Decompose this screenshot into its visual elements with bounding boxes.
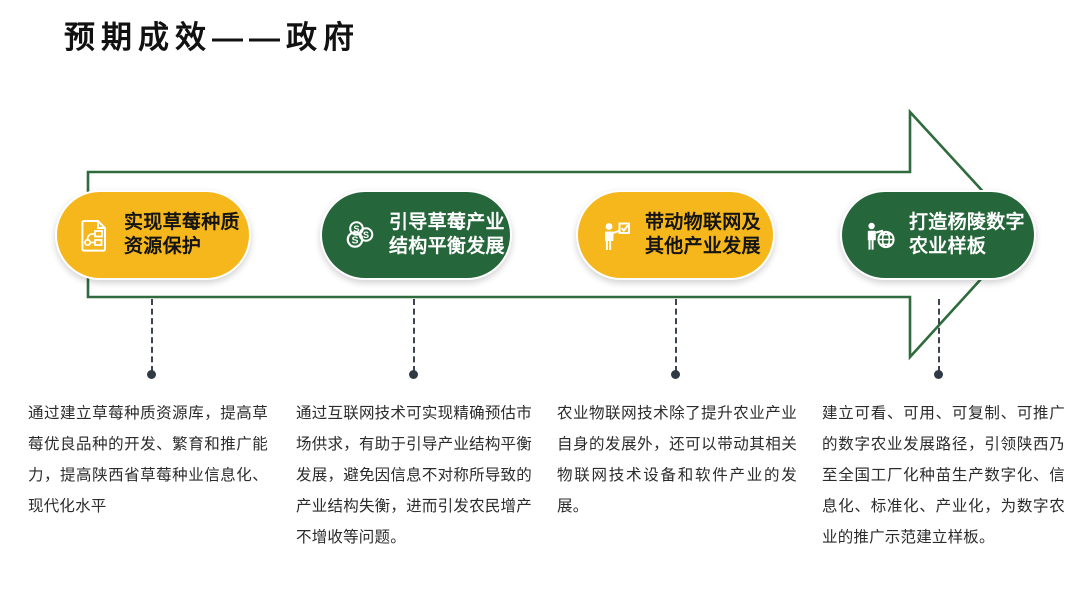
connector-line-4 [938,299,940,372]
step-pill-1[interactable]: 实现草莓种质 资源保护 [55,190,251,280]
step-label-4: 打造杨陵数字 农业样板 [909,211,1025,260]
svg-text:S: S [363,230,369,240]
connector-line-2 [413,299,415,372]
connector-line-1 [151,299,153,372]
step-pill-2[interactable]: S S S 引导草莓产业 结构平衡发展 [320,190,512,280]
step-label-1: 实现草莓种质 资源保护 [124,211,240,260]
coins-dollar-icon: S S S [340,215,380,255]
connector-dot-1 [147,370,156,379]
person-checklist-icon [596,215,636,255]
connector-dot-4 [934,370,943,379]
person-globe-icon [860,215,900,255]
step-label-2: 引导草莓产业 结构平衡发展 [389,211,505,260]
step-description-1: 通过建立草莓种质资源库，提高草莓优良品种的开发、繁育和推广能力，提高陕西省草莓种… [28,398,268,522]
page-title: 预期成效——政府 [64,18,360,58]
connector-line-3 [675,299,677,372]
connector-dot-3 [671,370,680,379]
connector-dot-2 [409,370,418,379]
slide-canvas: 预期成效——政府 实现草莓种质 资源保护 通过建立草莓种质资源库，提高草莓优良品… [0,0,1080,609]
step-description-4: 建立可看、可用、可复制、可推广的数字农业发展路径，引领陕西乃至全国工厂化种苗生产… [822,398,1065,553]
step-description-3: 农业物联网技术除了提升农业产业自身的发展外，还可以带动其相关物联网技术设备和软件… [557,398,797,522]
document-network-icon [75,215,115,255]
step-label-3: 带动物联网及 其他产业发展 [645,211,761,260]
step-pill-4[interactable]: 打造杨陵数字 农业样板 [840,190,1036,280]
step-pill-3[interactable]: 带动物联网及 其他产业发展 [576,190,775,280]
svg-text:S: S [351,235,358,247]
step-description-2: 通过互联网技术可实现精确预估市场供求，有助于引导产业结构平衡发展，避免因信息不对… [296,398,532,553]
